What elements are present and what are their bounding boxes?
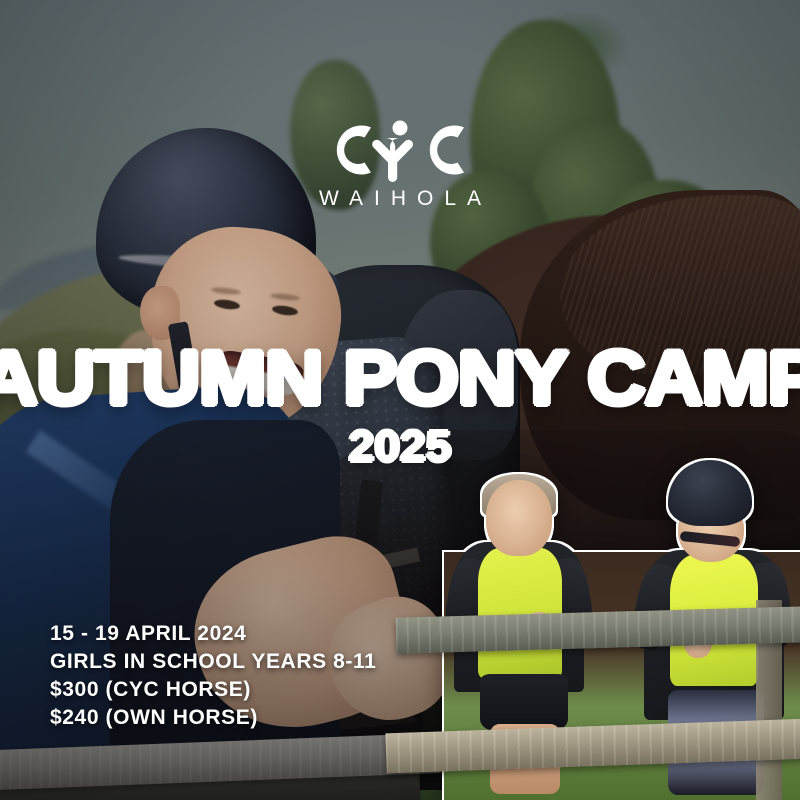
cyc-person-logo-icon <box>325 118 475 182</box>
detail-price-own-horse: $240 (OWN HORSE) <box>50 704 376 732</box>
detail-price-cyc-horse: $300 (CYC HORSE) <box>50 676 376 704</box>
headline-year: 2025 <box>0 422 800 472</box>
cyc-logo: WAIHOLA <box>0 118 800 209</box>
poster-canvas: WAIHOLA AUTUMN PONY CAMP 2025 15 - 19 AP… <box>0 0 800 800</box>
girl-left-face <box>486 480 552 556</box>
headline-block: AUTUMN PONY CAMP 2025 <box>0 344 800 472</box>
event-details: 15 - 19 APRIL 2024 GIRLS IN SCHOOL YEARS… <box>50 620 376 733</box>
detail-eligibility: GIRLS IN SCHOOL YEARS 8-11 <box>50 648 376 676</box>
detail-dates: 15 - 19 APRIL 2024 <box>50 620 376 648</box>
page-title: AUTUMN PONY CAMP <box>0 344 800 414</box>
logo-subtitle: WAIHOLA <box>308 188 492 209</box>
